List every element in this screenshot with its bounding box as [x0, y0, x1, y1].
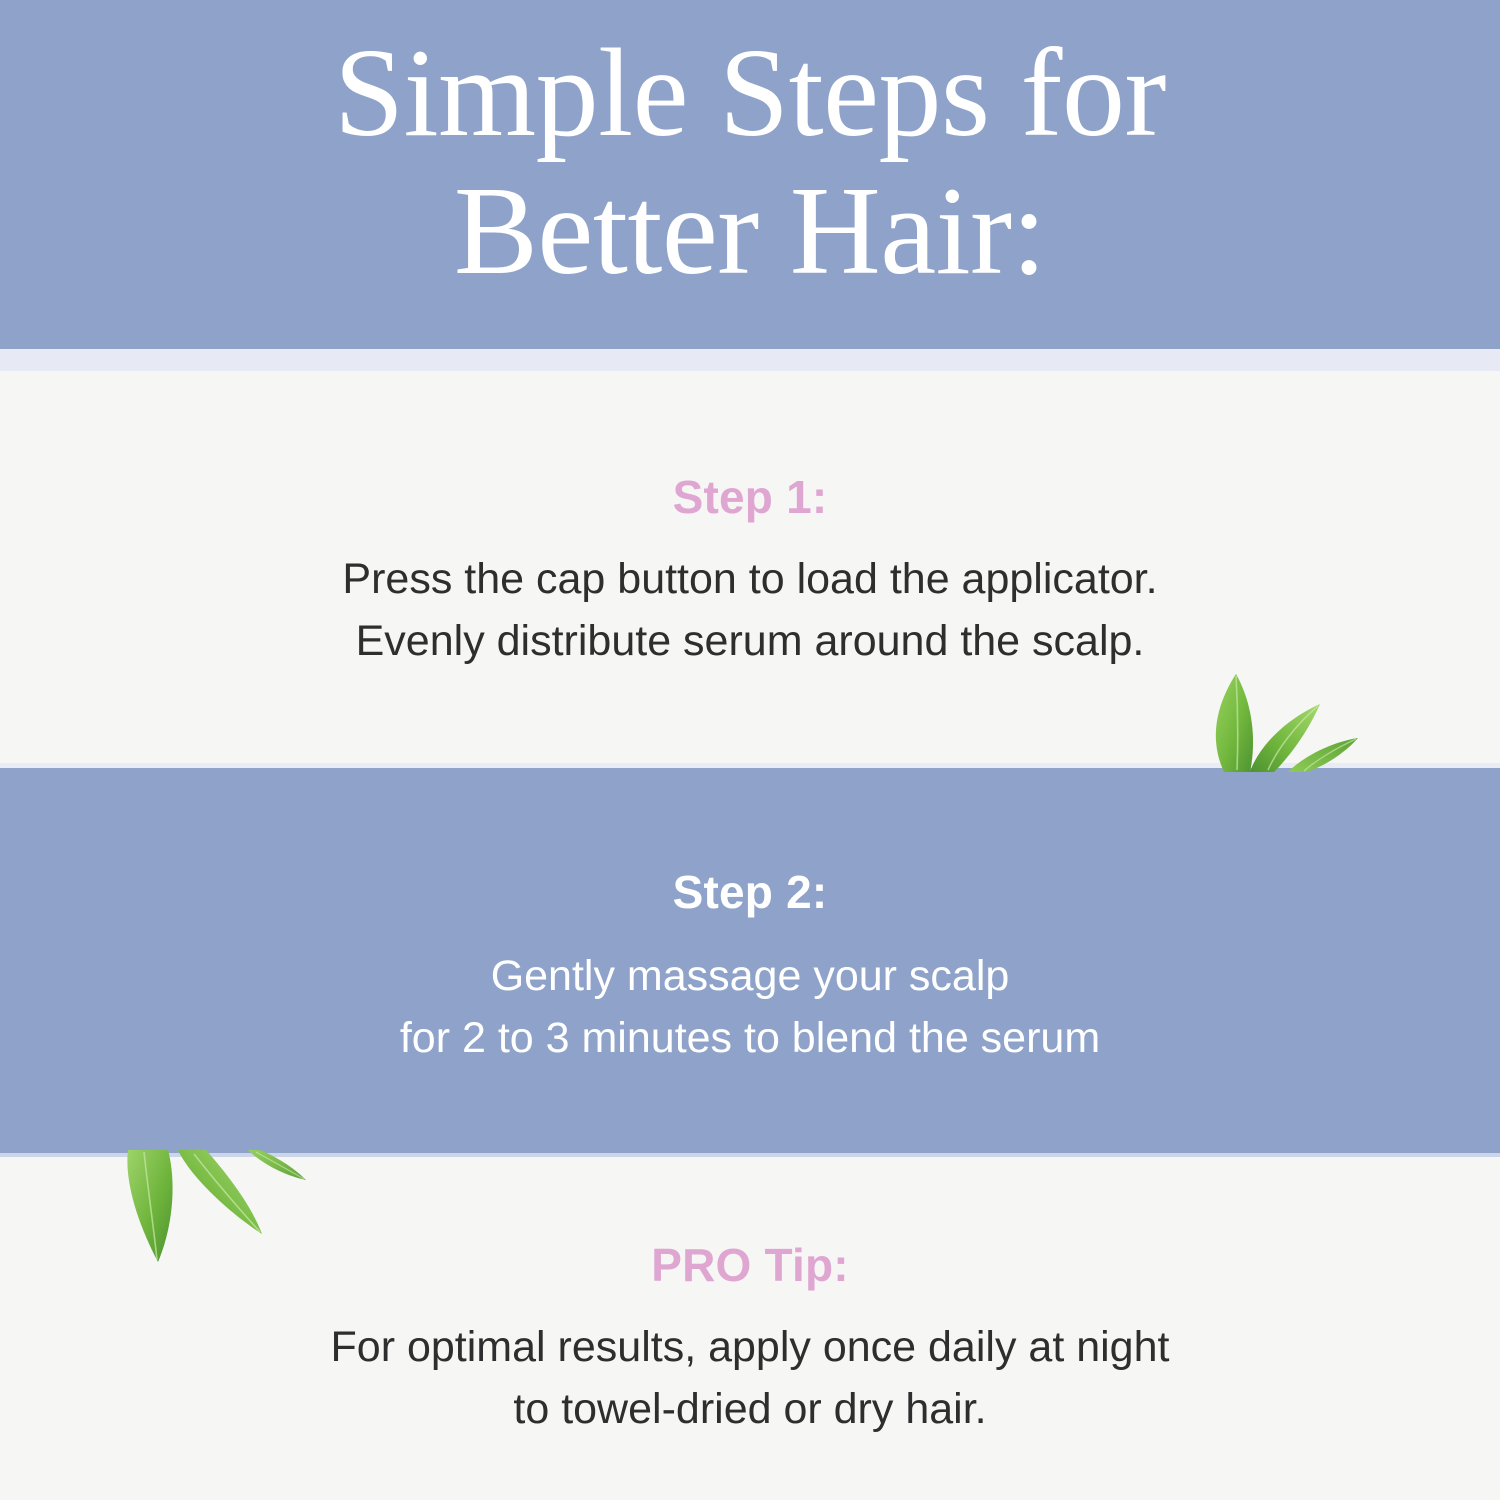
pro-tip-body-line-1: For optimal results, apply once daily at…	[0, 1316, 1500, 1378]
step-2-section: Step 2: Gently massage your scalp for 2 …	[0, 865, 1500, 1070]
step-1-body-line-2: Evenly distribute serum around the scalp…	[0, 610, 1500, 672]
poster-canvas: Simple Steps for Better Hair: Step 1: Pr…	[0, 0, 1500, 1500]
pro-tip-body-line-2: to towel-dried or dry hair.	[0, 1378, 1500, 1440]
leaf-icon	[1180, 664, 1400, 774]
page-title-line-1: Simple Steps for	[334, 25, 1166, 162]
step-1-section: Step 1: Press the cap button to load the…	[0, 470, 1500, 673]
leaf-cluster-right	[1180, 664, 1400, 774]
step-1-heading: Step 1:	[0, 470, 1500, 524]
step-2-body-line-1: Gently massage your scalp	[0, 945, 1500, 1007]
header-underline-strip	[0, 349, 1500, 371]
step-2-body-line-2: for 2 to 3 minutes to blend the serum	[0, 1007, 1500, 1069]
step-1-body-line-1: Press the cap button to load the applica…	[0, 548, 1500, 610]
pro-tip-heading: PRO Tip:	[0, 1238, 1500, 1292]
step-2-heading: Step 2:	[0, 865, 1500, 919]
header-band: Simple Steps for Better Hair:	[0, 0, 1500, 349]
pro-tip-section: PRO Tip: For optimal results, apply once…	[0, 1238, 1500, 1441]
mid-band-bottom-edge	[0, 1153, 1500, 1157]
page-title-line-2: Better Hair:	[454, 163, 1046, 300]
